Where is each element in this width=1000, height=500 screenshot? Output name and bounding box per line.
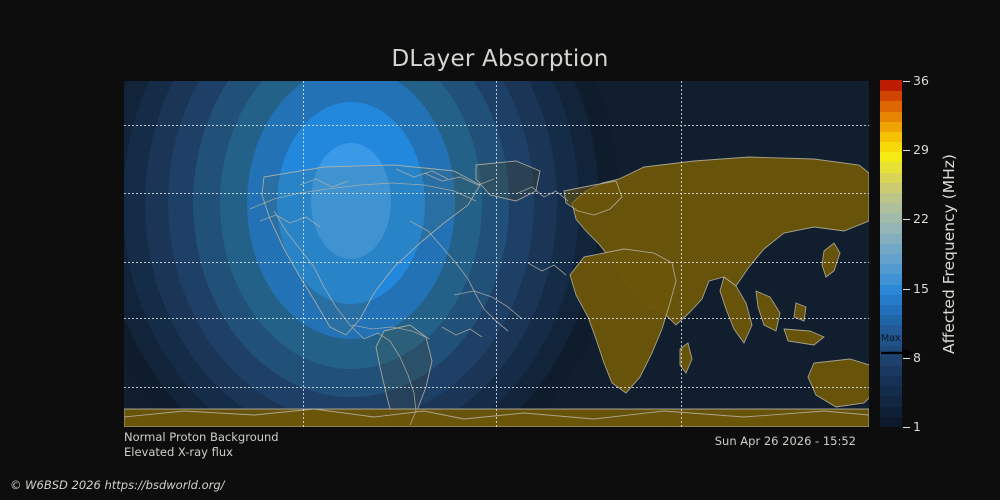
map-canvas [124, 81, 869, 427]
colorbar-segment [880, 141, 902, 152]
colorbar-segment [880, 233, 902, 244]
colorbar-segment [880, 324, 902, 335]
colorbar-segment [880, 101, 902, 112]
colorbar-tick-label: 29 [913, 144, 929, 157]
colorbar-segment [880, 253, 902, 264]
page-title: DLayer Absorption [0, 46, 1000, 72]
colorbar-axis-label: Affected Frequency (MHz) [938, 81, 960, 427]
colorbar-segment [880, 365, 902, 376]
colorbar-tick-label: 36 [913, 75, 929, 88]
colorbar-tick-mark [903, 358, 910, 359]
colorbar-segment [880, 131, 902, 142]
colorbar-segment [880, 355, 902, 366]
colorbar-tick-label: 15 [913, 282, 929, 295]
colorbar-tick-mark [903, 219, 910, 220]
colorbar-segment [880, 304, 902, 315]
colorbar-segment [880, 212, 902, 223]
colorbar-segment [880, 151, 902, 162]
colorbar-segment [880, 192, 902, 203]
colorbar-segment [880, 396, 902, 407]
colorbar-tick-mark [903, 289, 910, 290]
copyright-notice: © W6BSD 2026 https://bsdworld.org/ [10, 478, 225, 492]
world-map-panel[interactable] [124, 81, 869, 427]
colorbar-segment [880, 121, 902, 132]
colorbar-segment [880, 314, 902, 325]
timestamp: Sun Apr 26 2026 - 15:52 [715, 434, 856, 448]
colorbar-tick-mark [903, 150, 910, 151]
colorbar-segment [880, 294, 902, 305]
colorbar-tick-label: 8 [913, 352, 921, 365]
note-proton-background: Normal Proton Background [124, 430, 279, 445]
colorbar-segment [880, 172, 902, 183]
colorbar-segment [880, 263, 902, 274]
colorbar-segment [880, 223, 902, 234]
colorbar-segment [880, 243, 902, 254]
colorbar-tick-mark [903, 427, 910, 428]
colorbar-segment [880, 345, 902, 356]
colorbar-segment [880, 162, 902, 173]
colorbar-segment [880, 202, 902, 213]
colorbar-segment [880, 274, 902, 285]
note-xray-flux: Elevated X-ray flux [124, 445, 279, 460]
status-notes: Normal Proton Background Elevated X-ray … [124, 430, 279, 460]
colorbar-segment [880, 284, 902, 295]
colorbar-segment [880, 111, 902, 122]
colorbar-segment [880, 182, 902, 193]
colorbar-gradient [880, 81, 902, 427]
colorbar[interactable]: 1815222936 [880, 81, 902, 427]
colorbar-tick-label: 22 [913, 213, 929, 226]
colorbar-segment [880, 335, 902, 346]
colorbar-segment [880, 385, 902, 396]
colorbar-tick-label: 1 [913, 421, 921, 434]
colorbar-segment [880, 80, 902, 91]
colorbar-segment [880, 375, 902, 386]
colorbar-segment [880, 90, 902, 101]
colorbar-segment [880, 406, 902, 417]
colorbar-segment [880, 416, 902, 427]
colorbar-tick-mark [903, 81, 910, 82]
